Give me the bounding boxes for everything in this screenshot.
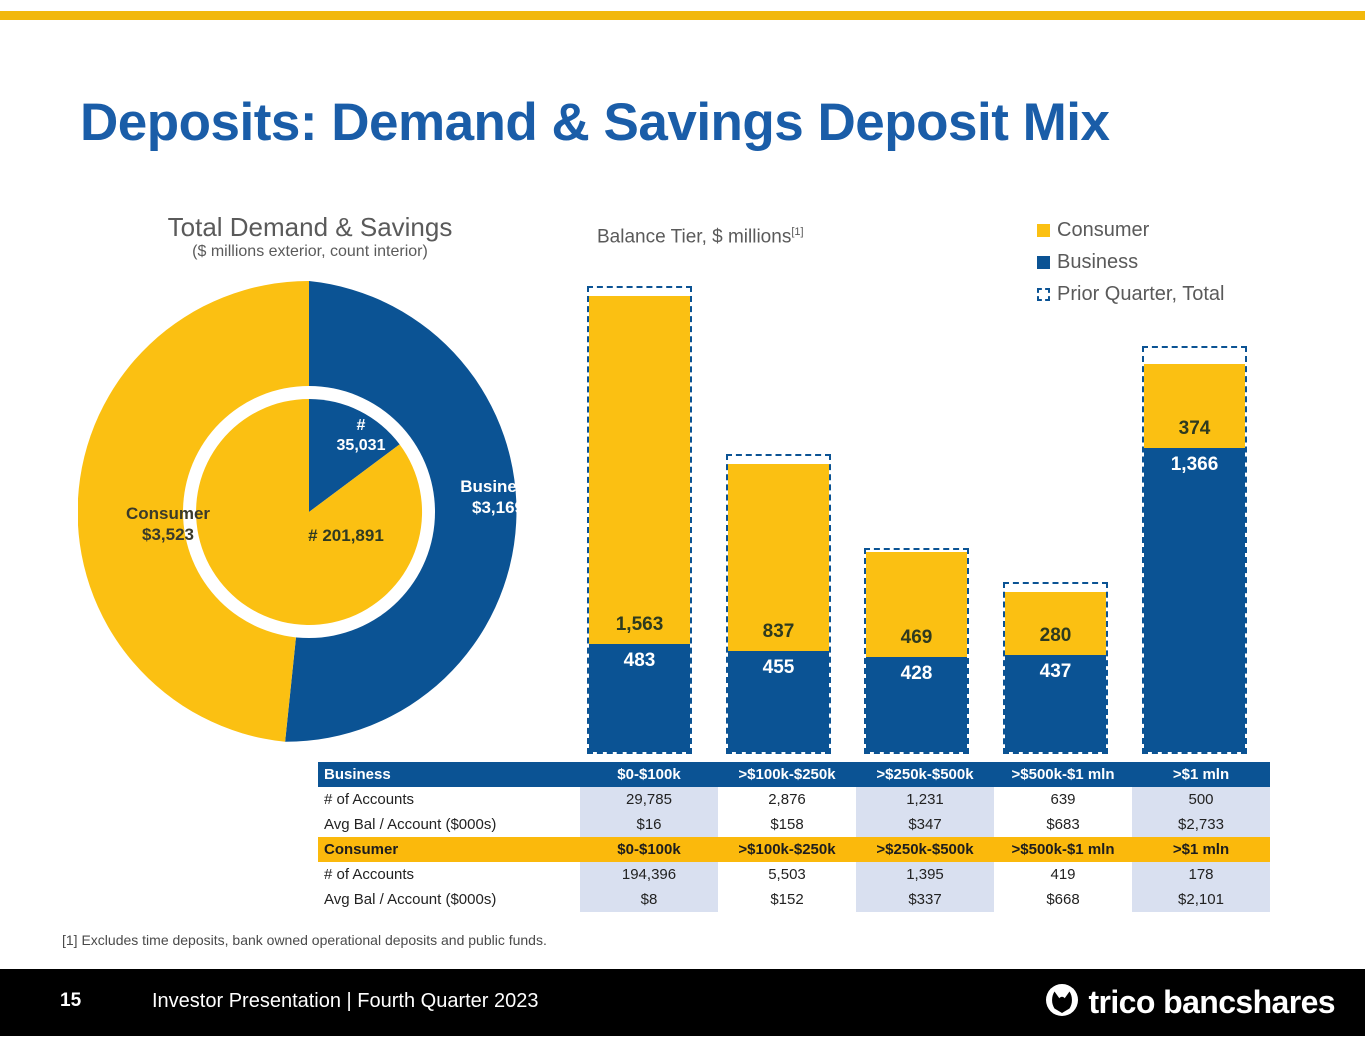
bar-chart-heading-footnote: [1] [791,226,803,238]
balance-tier-data-table: Business$0-$100k>$100k-$250k>$250k-$500k… [318,762,1270,912]
table-header-row-business: Business$0-$100k>$100k-$250k>$250k-$500k… [318,762,1270,787]
bar-value-business-1: 483 [624,650,656,672]
table-column-header: >$1 mln [1132,837,1270,862]
bar-value-business-3: 428 [901,663,933,685]
bar-segment-business-4: 437 [1005,655,1106,752]
table-column-header: >$500k-$1 mln [994,837,1132,862]
table-column-header: >$250k-$500k [856,762,994,787]
bar-value-consumer-4: 280 [1040,625,1072,647]
table-section-label: Consumer [318,837,580,862]
table-row-label: Avg Bal / Account ($000s) [318,887,580,912]
table-header-row-consumer: Consumer$0-$100k>$100k-$250k>$250k-$500k… [318,837,1270,862]
table-cell: $668 [994,887,1132,912]
legend-label-business: Business [1057,251,1138,274]
legend-label-consumer: Consumer [1057,219,1149,242]
table-row: # of Accounts194,3965,5031,395419178 [318,862,1270,887]
donut-label-business-count-value: 35,031 [316,436,406,456]
table-cell: $2,733 [1132,812,1270,837]
donut-label-consumer-name: Consumer [98,503,238,524]
table-cell: 500 [1132,787,1270,812]
bar-value-business-4: 437 [1040,661,1072,683]
balance-tier-bar-chart: 4831,5634558374284694372801,366374 [578,275,1278,754]
table-column-header: >$500k-$1 mln [994,762,1132,787]
bar-value-consumer-5: 374 [1179,418,1211,440]
donut-heading: Total Demand & Savings [155,212,465,243]
bar-group-1: 4831,563 [587,275,692,754]
legend-swatch-business-icon [1037,256,1050,269]
legend-item-business: Business [1037,246,1224,278]
bar-value-business-2: 455 [763,657,795,679]
bar-value-consumer-2: 837 [763,621,795,643]
table-cell: $683 [994,812,1132,837]
legend-swatch-consumer-icon [1037,224,1050,237]
donut-label-business-name: Business [433,476,563,497]
table-cell: 29,785 [580,787,718,812]
table-cell: 2,876 [718,787,856,812]
top-accent-bar [0,11,1365,20]
page-number: 15 [60,990,81,1012]
donut-label-business-count-hash: # [316,416,406,436]
table-cell: $2,101 [1132,887,1270,912]
bar-group-4: 437280 [1003,275,1108,754]
donut-label-business-dollars: Business $3,169 [433,476,563,519]
bar-segment-business-1: 483 [589,644,690,752]
donut-label-consumer-value: $3,523 [98,524,238,545]
table-cell: $158 [718,812,856,837]
bar-segment-consumer-4: 280 [1005,592,1106,654]
table-cell: 178 [1132,862,1270,887]
donut-label-consumer-count: # 201,891 [256,525,436,546]
donut-subheading: ($ millions exterior, count interior) [145,243,475,261]
table-column-header: >$100k-$250k [718,837,856,862]
brand-wordmark: trico bancshares [1088,984,1335,1021]
donut-label-business-count: # 35,031 [316,416,406,456]
slide-canvas: Deposits: Demand & Savings Deposit Mix T… [0,0,1365,1055]
footer-presentation-label: Investor Presentation | Fourth Quarter 2… [152,990,539,1013]
page-title: Deposits: Demand & Savings Deposit Mix [80,92,1109,153]
donut-label-consumer-dollars: Consumer $3,523 [98,503,238,546]
table-cell: 5,503 [718,862,856,887]
table-column-header: >$100k-$250k [718,762,856,787]
bar-segment-business-5: 1,366 [1144,448,1245,752]
table-row-label: # of Accounts [318,862,580,887]
table-cell: $337 [856,887,994,912]
slide-footer: 15 Investor Presentation | Fourth Quarte… [0,969,1365,1036]
bar-segment-business-2: 455 [728,651,829,752]
table-row-label: # of Accounts [318,787,580,812]
brand-logo: trico bancshares [1045,983,1335,1022]
table-section-label: Business [318,762,580,787]
table-row: # of Accounts29,7852,8761,231639500 [318,787,1270,812]
table-cell: 419 [994,862,1132,887]
legend-item-consumer: Consumer [1037,214,1224,246]
bar-group-5: 1,366374 [1142,275,1247,754]
bar-value-consumer-3: 469 [901,627,933,649]
donut-label-business-value: $3,169 [433,497,563,518]
table-cell: 639 [994,787,1132,812]
bar-value-consumer-1: 1,563 [616,614,664,636]
bar-segment-business-3: 428 [866,657,967,752]
table-cell: 1,395 [856,862,994,887]
bar-segment-consumer-1: 1,563 [589,296,690,644]
bar-group-2: 455837 [726,275,831,754]
tier-table: Business$0-$100k>$100k-$250k>$250k-$500k… [318,762,1270,912]
table-cell: $8 [580,887,718,912]
trico-logo-mark-icon [1045,983,1079,1022]
bar-segment-consumer-5: 374 [1144,364,1245,447]
bar-chart-heading-text: Balance Tier, $ millions [597,226,791,247]
table-row: Avg Bal / Account ($000s)$8$152$337$668$… [318,887,1270,912]
deposit-mix-donut-chart: Consumer $3,523 Business $3,169 # 35,031… [78,281,540,743]
table-cell: $152 [718,887,856,912]
table-column-header: >$250k-$500k [856,837,994,862]
table-cell: $16 [580,812,718,837]
table-cell: 1,231 [856,787,994,812]
table-cell: $347 [856,812,994,837]
footnote: [1] Excludes time deposits, bank owned o… [62,932,547,948]
footer-bottom-strip [0,1036,1365,1055]
bar-chart-heading: Balance Tier, $ millions[1] [597,226,804,248]
table-column-header: $0-$100k [580,762,718,787]
table-row-label: Avg Bal / Account ($000s) [318,812,580,837]
table-column-header: >$1 mln [1132,762,1270,787]
bar-group-3: 428469 [864,275,969,754]
table-row: Avg Bal / Account ($000s)$16$158$347$683… [318,812,1270,837]
bar-value-business-5: 1,366 [1171,454,1219,476]
table-cell: 194,396 [580,862,718,887]
bar-segment-consumer-2: 837 [728,464,829,650]
bar-segment-consumer-3: 469 [866,552,967,656]
table-column-header: $0-$100k [580,837,718,862]
